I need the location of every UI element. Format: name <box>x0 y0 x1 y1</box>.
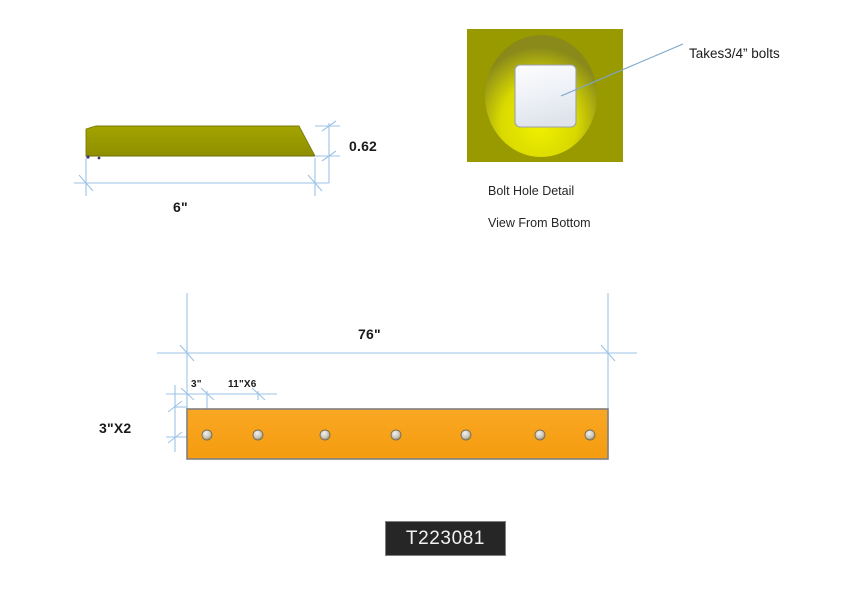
side-view-origin-marker-secondary <box>98 157 101 160</box>
dimension-label-length: 6" <box>173 200 188 214</box>
bolt-hole <box>391 430 401 440</box>
drawing-vector-layer <box>0 0 849 600</box>
square-bolt-hole <box>515 65 576 127</box>
dimension-label-bar-width: 3"X2 <box>99 421 131 435</box>
side-view-body <box>86 126 315 156</box>
dimension-label-overall-length: 76" <box>358 327 381 341</box>
dimension-width-3inx2 <box>166 385 187 452</box>
bolt-hole <box>535 430 545 440</box>
technical-drawing-canvas: 0.62 6" Takes3/4” bolts Bolt Hole Detail… <box>0 0 849 600</box>
bolt-hole <box>253 430 263 440</box>
bolt-hole <box>585 430 595 440</box>
bar-bolt-holes <box>202 430 595 440</box>
part-number-plate: T223081 <box>385 521 506 556</box>
bolt-hole <box>320 430 330 440</box>
bolt-hole <box>461 430 471 440</box>
dimension-label-edge-offset: 3" <box>191 380 202 390</box>
dimension-thickness-0p62 <box>315 121 340 183</box>
side-view-origin-marker <box>86 155 89 158</box>
detail-caption-title: Bolt Hole Detail <box>488 185 574 198</box>
dimension-label-thickness: 0.62 <box>349 139 377 153</box>
bottom-view-bar <box>187 409 608 459</box>
dimension-label-hole-spacing: 11"X6 <box>228 380 257 390</box>
detail-caption-orientation: View From Bottom <box>488 217 591 230</box>
bolt-hole-detail-view <box>467 29 683 162</box>
bolt-note-label: Takes3/4” bolts <box>689 47 780 61</box>
bolt-hole <box>202 430 212 440</box>
dimension-length-6in <box>74 158 329 196</box>
side-view-profile <box>86 126 315 159</box>
part-number-text: T223081 <box>406 529 485 548</box>
